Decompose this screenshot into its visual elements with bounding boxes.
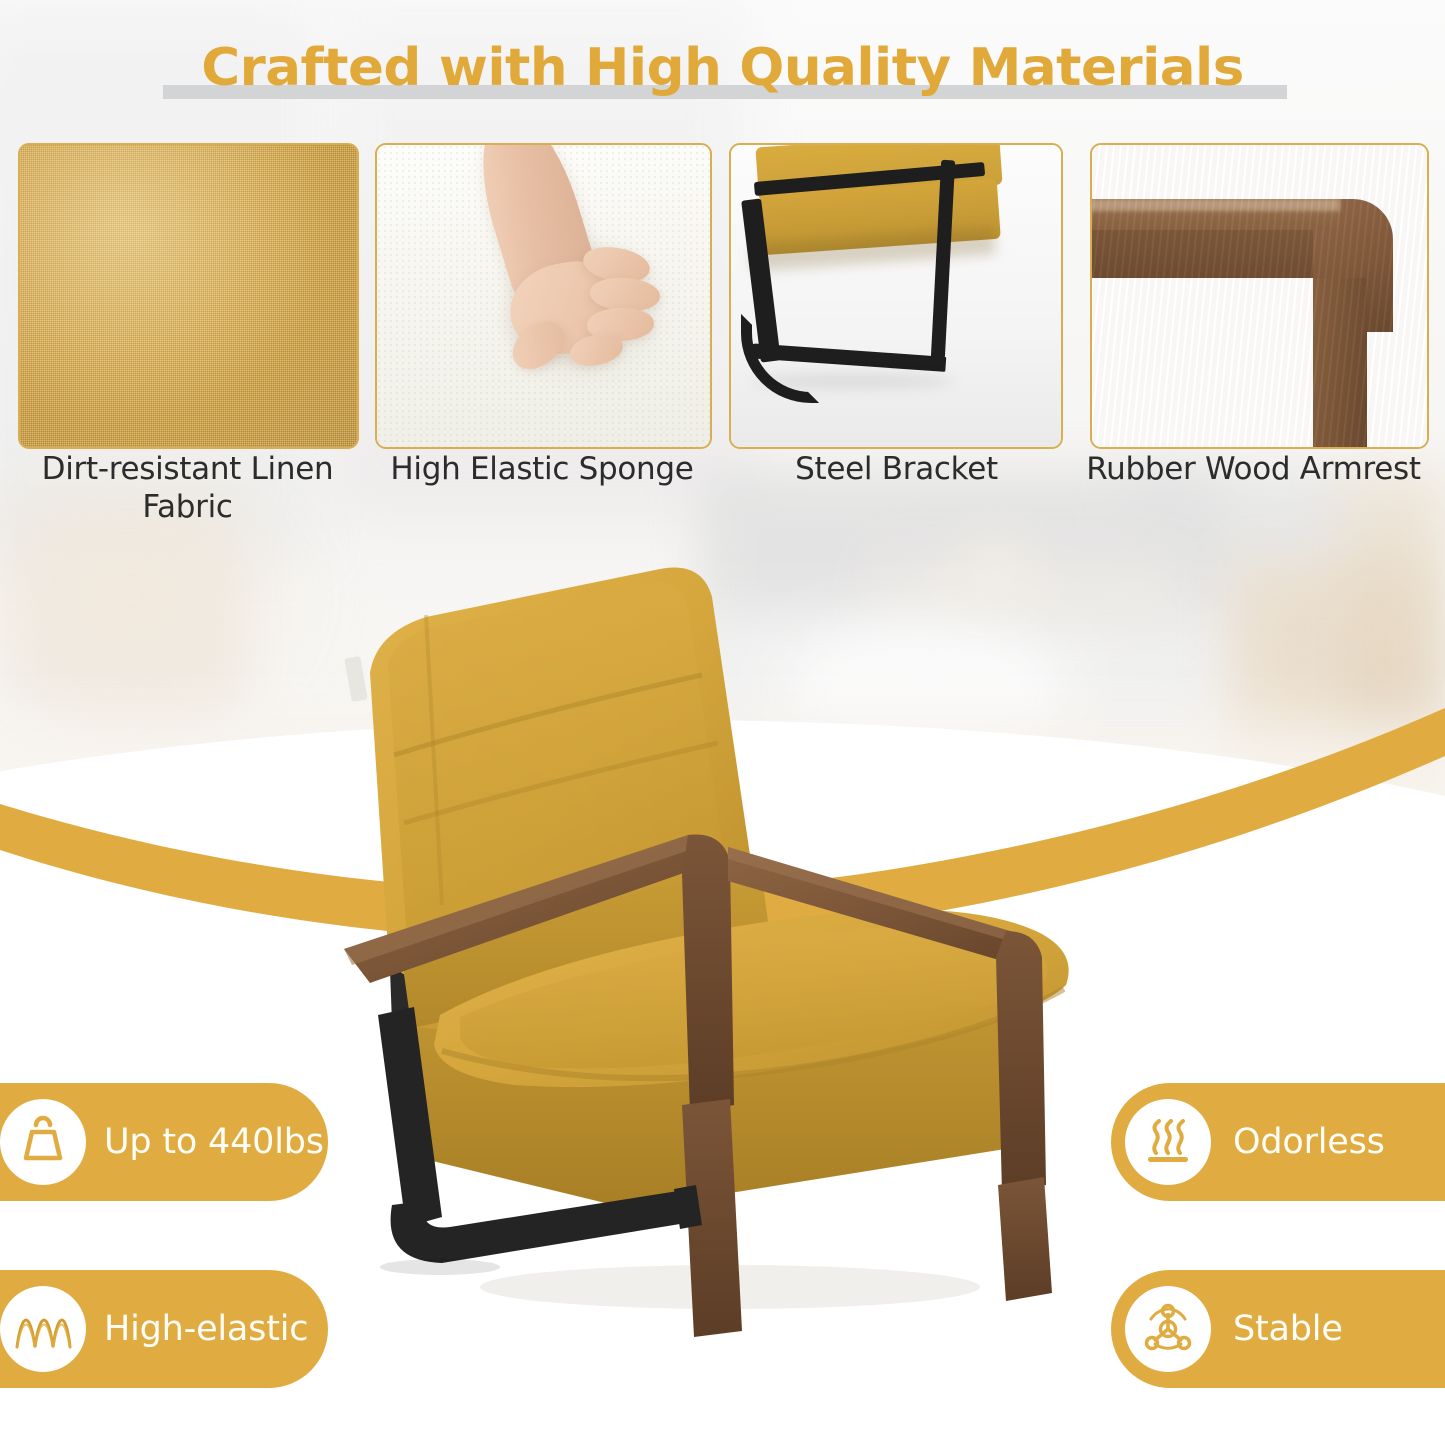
feature-card-elastic-sponge[interactable] — [375, 143, 712, 449]
badge-high-elastic[interactable]: High-elastic — [0, 1270, 328, 1388]
molecule-icon — [1125, 1286, 1211, 1372]
badge-odorless[interactable]: Odorless — [1111, 1083, 1445, 1201]
steam-icon — [1125, 1099, 1211, 1185]
feature-card-label-elastic-sponge: High Elastic Sponge — [368, 451, 716, 489]
feature-card-label-linen-fabric: Dirt-resistant Linen Fabric — [0, 451, 375, 527]
badge-weight-capacity[interactable]: Up to 440lbs — [0, 1083, 328, 1201]
feature-card-wood-armrest[interactable] — [1090, 143, 1429, 449]
badge-label-stable: Stable — [1233, 1309, 1343, 1349]
badge-stable[interactable]: Stable — [1111, 1270, 1445, 1388]
feature-card-label-wood-armrest: Rubber Wood Armrest — [1062, 451, 1445, 489]
feature-card-steel-bracket[interactable] — [729, 143, 1063, 449]
page-title-area: Crafted with High Quality Materials — [0, 38, 1445, 110]
feature-card-row: Dirt-resistant Linen Fabric High Elastic… — [0, 143, 1445, 488]
infographic-canvas: Crafted with High Quality Materials Dirt… — [0, 0, 1445, 1445]
product-chair-photo — [330, 545, 1120, 1345]
page-title: Crafted with High Quality Materials — [0, 38, 1445, 98]
badge-label-odorless: Odorless — [1233, 1122, 1385, 1162]
badge-label-high-elastic: High-elastic — [104, 1309, 308, 1349]
feature-card-linen-fabric[interactable] — [18, 143, 359, 449]
weight-icon — [0, 1099, 86, 1185]
badge-label-weight-capacity: Up to 440lbs — [104, 1122, 324, 1162]
spring-icon — [0, 1286, 86, 1372]
feature-card-label-steel-bracket: Steel Bracket — [724, 451, 1069, 489]
